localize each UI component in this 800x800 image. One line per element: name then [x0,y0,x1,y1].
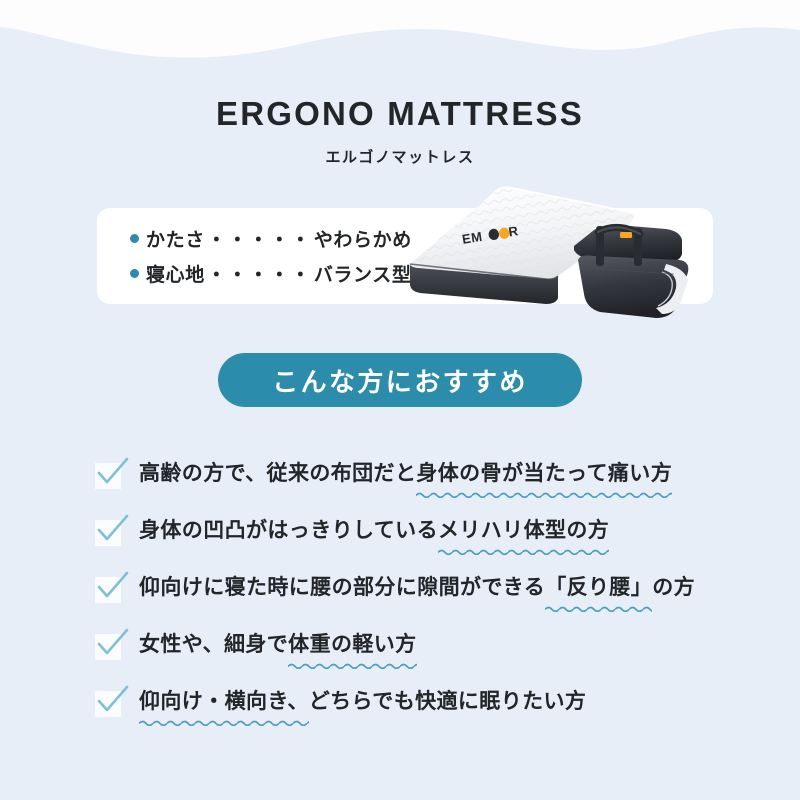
checklist-text-emphasis: 体重の軽い方 [288,627,416,669]
checklist-item: 身体の凹凸がはっきりしているメリハリ体型の方 [95,513,735,570]
check-icon [95,459,125,489]
checklist-text-plain: 高齢の方で、従来の布団だと [139,461,416,485]
checklist-item-text: 身体の凹凸がはっきりしているメリハリ体型の方 [139,513,609,555]
checklist-item-text: 仰向け・横向き、どちらでも快適に眠りたい方 [139,684,586,726]
spec-card: かたさ ・・・・・ やわらかめ 寝心地 ・・・・・ バランス型 [97,208,713,304]
checklist-item-text: 女性や、細身で体重の軽い方 [139,627,417,669]
checklist-item: 高齢の方で、従来の布団だと身体の骨が当たって痛い方 [95,456,735,513]
checklist-text-emphasis: 仰向け・横向き、 [139,684,309,726]
spec-value: バランス型 [314,260,412,287]
checklist-text-emphasis: 身体の骨が当たって痛い方 [416,456,672,498]
checklist-text-emphasis: 「反り腰」 [545,570,652,612]
checklist-text-plain: 仰向けに寝た時に腰の部分に隙間ができる [139,575,545,599]
top-wave-decoration [0,0,800,72]
checklist-text-tail: の方 [652,575,695,599]
spec-row-comfort: 寝心地 ・・・・・ バランス型 [130,256,412,291]
checklist-item: 仰向け・横向き、どちらでも快適に眠りたい方 [95,684,735,741]
spec-leader-dots: ・・・・・ [205,260,314,287]
page-subtitle: エルゴノマットレス [0,146,800,167]
checklist-item-text: 仰向けに寝た時に腰の部分に隙間ができる「反り腰」の方 [139,570,695,612]
spec-label: 寝心地 [146,260,205,287]
title-block: ERGONO MATTRESS エルゴノマットレス [0,96,800,167]
bullet-dot-icon [130,234,139,243]
spec-label: かたさ [146,225,205,252]
checklist-text-plain: 身体の凹凸がはっきりしている [139,518,438,542]
recommendation-banner: こんな方におすすめ [218,353,582,407]
bullet-dot-icon [130,269,139,278]
checklist-text-emphasis: メリハリ体型の方 [438,513,609,555]
page-title: ERGONO MATTRESS [0,96,800,132]
promo-image-canvas: ERGONO MATTRESS エルゴノマットレス かたさ ・・・・・ やわらか… [0,0,800,800]
checklist-item: 仰向けに寝た時に腰の部分に隙間ができる「反り腰」の方 [95,570,735,627]
checklist-text-plain: 女性や、細身で [139,632,288,656]
checklist-item-text: 高齢の方で、従来の布団だと身体の骨が当たって痛い方 [139,456,672,498]
spec-value: やわらかめ [314,225,412,252]
check-icon [95,687,125,717]
checklist-text-tail: どちらでも快適に眠りたい方 [309,689,587,713]
recommendation-checklist: 高齢の方で、従来の布団だと身体の骨が当たって痛い方 身体の凹凸がはっきりしている… [95,456,735,741]
spec-row-firmness: かたさ ・・・・・ やわらかめ [130,221,412,256]
check-icon [95,516,125,546]
check-icon [95,630,125,660]
spec-list: かたさ ・・・・・ やわらかめ 寝心地 ・・・・・ バランス型 [130,221,412,291]
checklist-item: 女性や、細身で体重の軽い方 [95,627,735,684]
check-icon [95,573,125,603]
recommendation-banner-label: こんな方におすすめ [272,362,528,399]
spec-leader-dots: ・・・・・ [205,225,314,252]
